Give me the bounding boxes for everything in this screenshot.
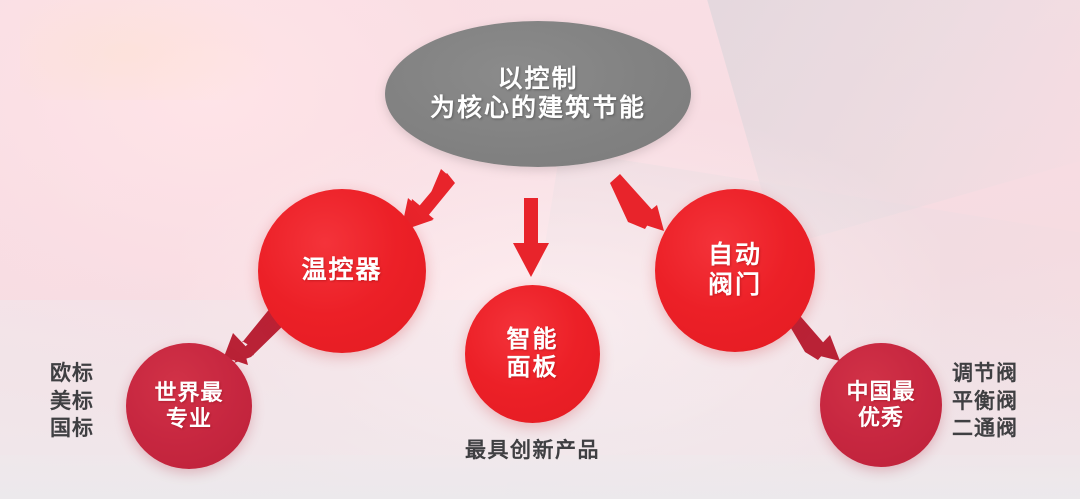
caption-standards-left: 欧标 美标 国标 <box>50 360 94 443</box>
node-automatic-valve[interactable]: 自动 阀门 <box>655 189 815 352</box>
caption-valve-types-right: 调节阀 平衡阀 二通阀 <box>952 360 1018 443</box>
node-china-best[interactable]: 中国最 优秀 <box>820 343 942 467</box>
node-thermostat[interactable]: 温控器 <box>258 189 426 353</box>
node-thermostat-label: 温控器 <box>301 256 382 286</box>
node-china-best-label: 中国最 优秀 <box>846 379 915 431</box>
node-world-most-professional[interactable]: 世界最 专业 <box>126 343 252 469</box>
node-automatic-valve-label: 自动 阀门 <box>708 241 762 300</box>
node-smart-panel-label: 智能 面板 <box>507 326 559 383</box>
hub-node-building-energy-saving[interactable]: 以控制 为核心的建筑节能 <box>385 21 691 167</box>
node-world-most-professional-label: 世界最 专业 <box>154 380 223 432</box>
background-warm-tint <box>20 0 280 100</box>
hub-node-label: 以控制 为核心的建筑节能 <box>430 65 646 124</box>
node-smart-panel[interactable]: 智能 面板 <box>465 285 600 423</box>
caption-most-innovative-product: 最具创新产品 <box>465 437 600 465</box>
diagram-canvas: 以控制 为核心的建筑节能 温控器 智能 面板 自动 阀门 世界最 专业 中国最 … <box>0 0 1080 499</box>
